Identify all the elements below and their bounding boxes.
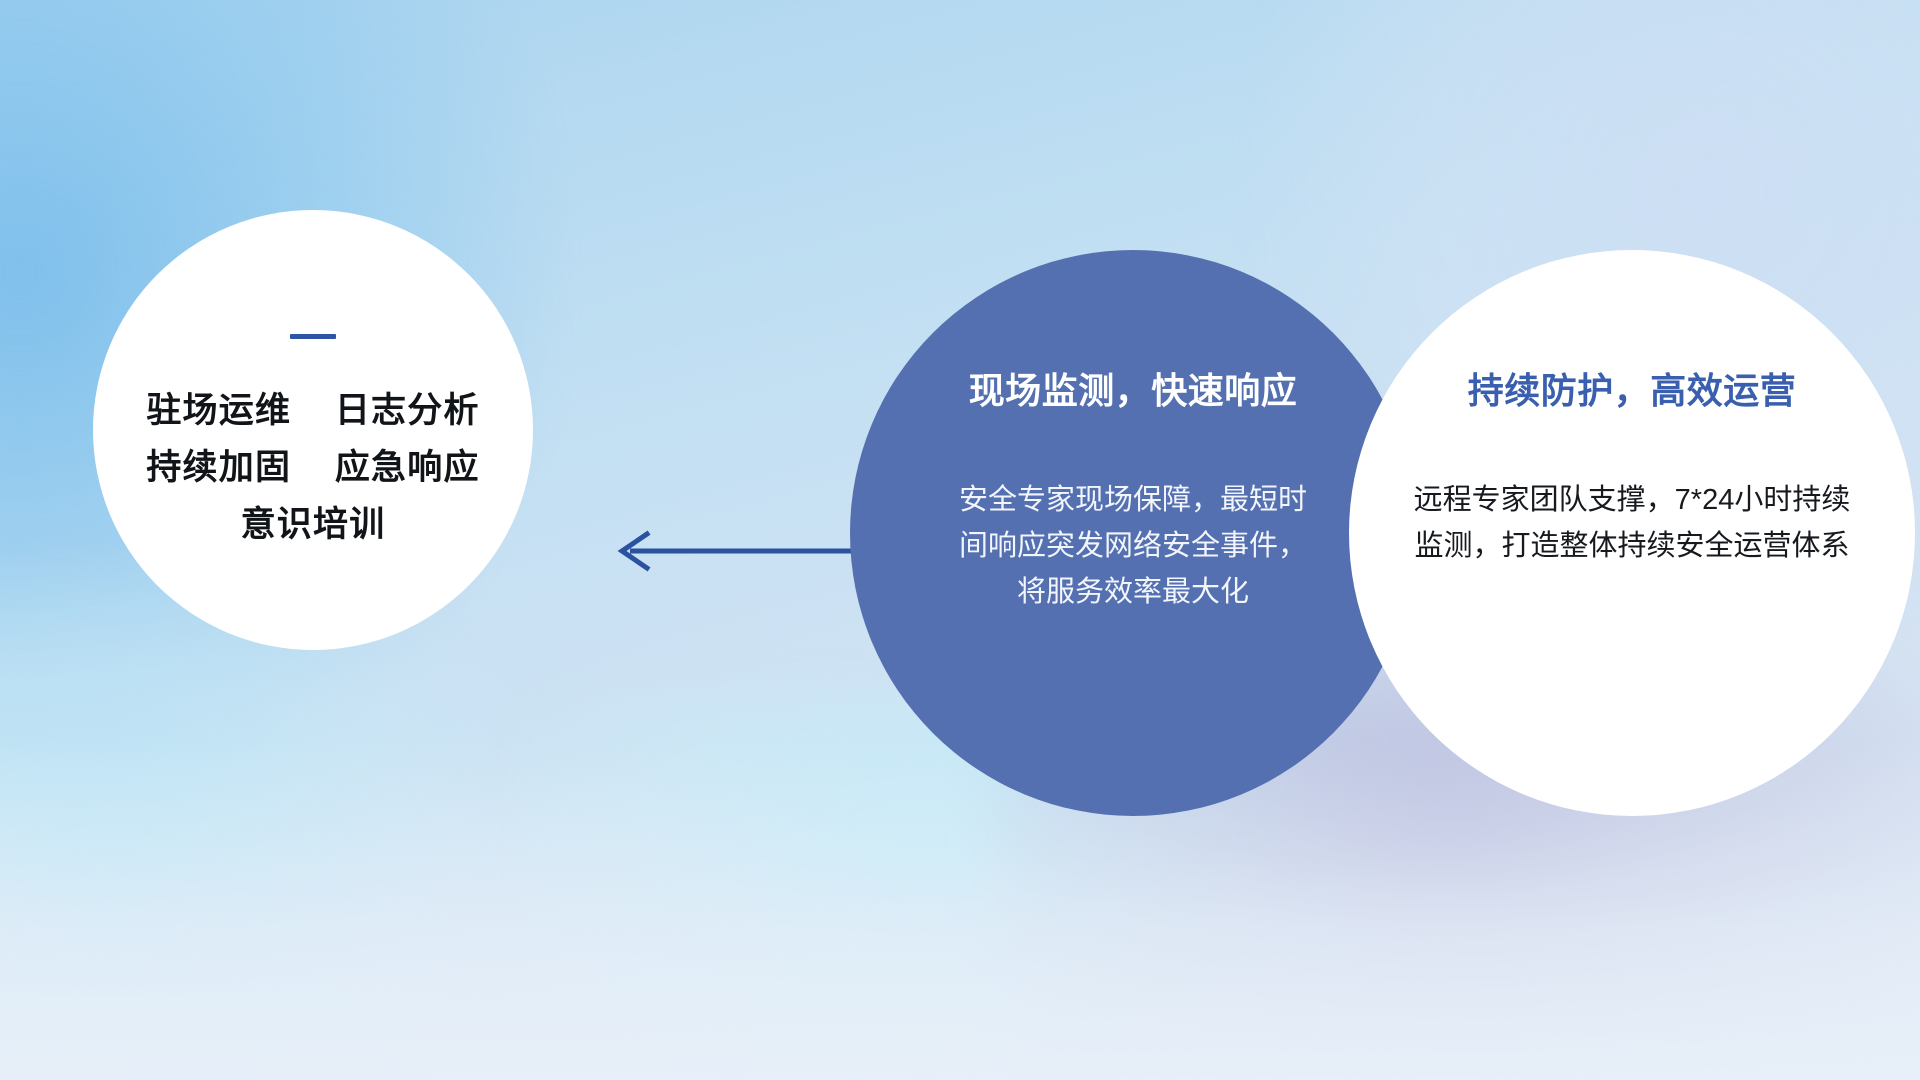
continuous-protection-body: 远程专家团队支撑，7*24小时持续监测，打造整体持续安全运营体系 (1406, 478, 1858, 570)
onsite-monitoring-body: 安全专家现场保障，最短时间响应突发网络安全事件，将服务效率最大化 (954, 478, 1312, 615)
capability-list: 驻场运维 日志分析 持续加固 应急响应 意识培训 (146, 334, 479, 553)
onsite-monitoring-title: 现场监测，快速响应 (969, 362, 1298, 414)
arrow-left-icon (600, 520, 890, 580)
capability-line-2: 持续加固 应急响应 (146, 440, 479, 497)
continuous-protection-content: 持续防护，高效运营 远程专家团队支撑，7*24小时持续监测，打造整体持续安全运营… (1397, 362, 1867, 570)
capability-circle-left[interactable]: 驻场运维 日志分析 持续加固 应急响应 意识培训 (93, 210, 533, 650)
continuous-protection-title: 持续防护，高效运营 (1468, 362, 1797, 414)
slide-canvas: 驻场运维 日志分析 持续加固 应急响应 意识培训 现场监测，快速响应 安全专家现… (0, 0, 1920, 1080)
divider-dash-icon (290, 334, 336, 339)
capability-line-1: 驻场运维 日志分析 (146, 383, 479, 440)
onsite-monitoring-circle[interactable]: 现场监测，快速响应 安全专家现场保障，最短时间响应突发网络安全事件，将服务效率最… (850, 250, 1416, 816)
capability-line-3: 意识培训 (241, 497, 386, 554)
onsite-monitoring-content: 现场监测，快速响应 安全专家现场保障，最短时间响应突发网络安全事件，将服务效率最… (923, 362, 1343, 615)
continuous-protection-circle[interactable]: 持续防护，高效运营 远程专家团队支撑，7*24小时持续监测，打造整体持续安全运营… (1349, 250, 1915, 816)
